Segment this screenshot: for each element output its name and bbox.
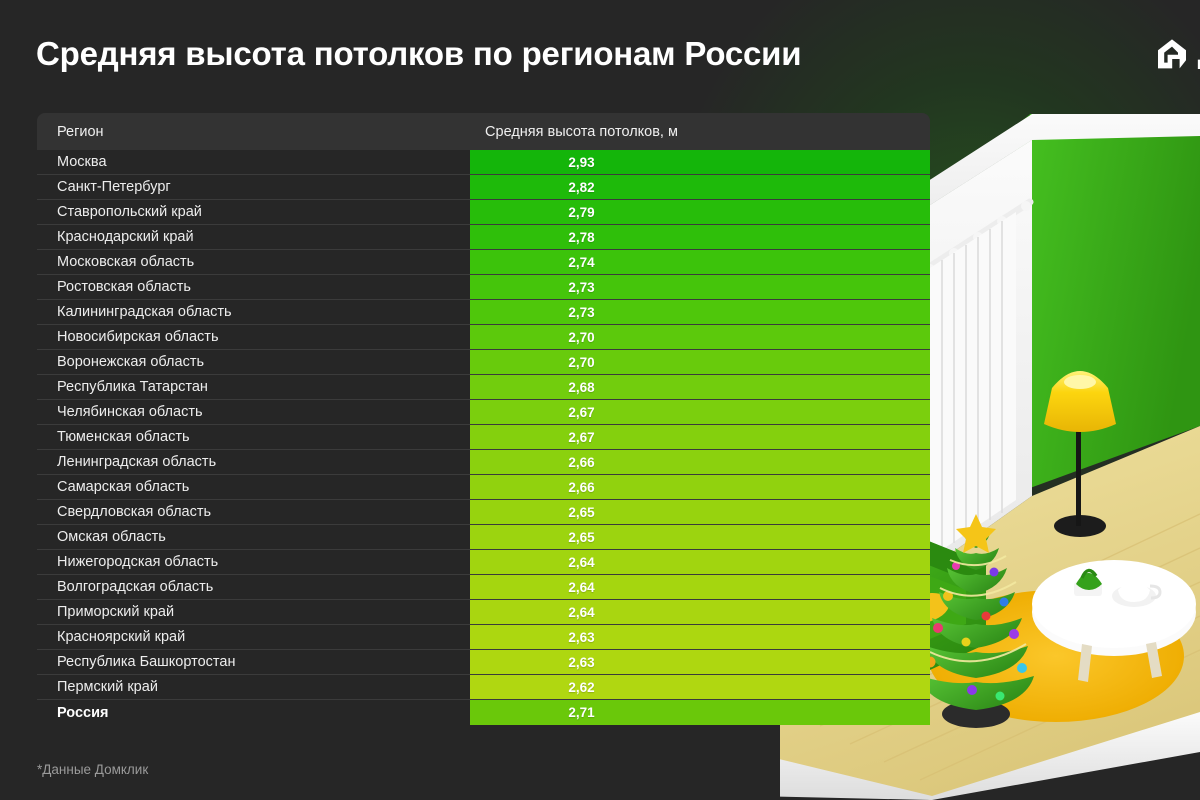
table-row: Приморский край2,64 xyxy=(37,600,930,625)
table-row: Самарская область2,66 xyxy=(37,475,930,500)
table-row: Омская область2,65 xyxy=(37,525,930,550)
cell-value-bar: 2,71 xyxy=(470,700,930,725)
cell-region-name: Москва xyxy=(37,150,470,174)
table-row: Нижегородская область2,64 xyxy=(37,550,930,575)
cell-value-bar: 2,93 xyxy=(470,150,930,174)
cell-value-bar: 2,64 xyxy=(470,600,930,624)
cell-value-bar: 2,67 xyxy=(470,400,930,424)
cell-value-bar: 2,70 xyxy=(470,325,930,349)
cell-region-name: Пермский край xyxy=(37,675,470,699)
cell-region-name: Приморский край xyxy=(37,600,470,624)
cell-region-name: Московская область xyxy=(37,250,470,274)
table-row: Челябинская область2,67 xyxy=(37,400,930,425)
table-row: Волгоградская область2,64 xyxy=(37,575,930,600)
table-row: Ростовская область2,73 xyxy=(37,275,930,300)
page-title: Средняя высота потолков по регионам Росс… xyxy=(36,36,801,72)
cell-region-name: Республика Татарстан xyxy=(37,375,470,399)
table-row: Московская область2,74 xyxy=(37,250,930,275)
cell-value-bar: 2,79 xyxy=(470,200,930,224)
cell-value-bar: 2,63 xyxy=(470,625,930,649)
cell-region-name: Ленинградская область xyxy=(37,450,470,474)
table-row: Санкт-Петербург2,82 xyxy=(37,175,930,200)
cell-value-bar: 2,63 xyxy=(470,650,930,674)
cell-value-bar: 2,73 xyxy=(470,275,930,299)
table-row: Краснодарский край2,78 xyxy=(37,225,930,250)
table-row: Свердловская область2,65 xyxy=(37,500,930,525)
table-row: Калининградская область2,73 xyxy=(37,300,930,325)
table-header-row: Регион Средняя высота потолков, м xyxy=(37,113,930,150)
cell-region-name: Новосибирская область xyxy=(37,325,470,349)
table-row: Красноярский край2,63 xyxy=(37,625,930,650)
table-row-total: Россия2,71 xyxy=(37,700,930,725)
cell-region-name: Красноярский край xyxy=(37,625,470,649)
page-header: Средняя высота потолков по регионам Росс… xyxy=(0,0,1200,108)
cell-value-bar: 2,66 xyxy=(470,475,930,499)
cell-region-name: Самарская область xyxy=(37,475,470,499)
ceiling-height-table: Регион Средняя высота потолков, м Москва… xyxy=(37,113,930,725)
cell-value-bar: 2,70 xyxy=(470,350,930,374)
cell-region-name: Краснодарский край xyxy=(37,225,470,249)
cell-value-bar: 2,62 xyxy=(470,675,930,699)
cell-region-name: Калининградская область xyxy=(37,300,470,324)
source-footnote: *Данные Домклик xyxy=(37,762,148,777)
cell-value-bar: 2,68 xyxy=(470,375,930,399)
column-header-value: Средняя высота потолков, м xyxy=(470,124,930,140)
cell-value-bar: 2,73 xyxy=(470,300,930,324)
cell-region-name: Республика Башкортостан xyxy=(37,650,470,674)
table-row: Новосибирская область2,70 xyxy=(37,325,930,350)
cell-value-bar: 2,64 xyxy=(470,575,930,599)
cell-value-bar: 2,64 xyxy=(470,550,930,574)
table-row: Республика Татарстан2,68 xyxy=(37,375,930,400)
table-body: Москва2,93Санкт-Петербург2,82Ставропольс… xyxy=(37,150,930,725)
cell-region-name: Россия xyxy=(37,700,470,725)
cell-value-bar: 2,82 xyxy=(470,175,930,199)
table-row: Ставропольский край2,79 xyxy=(37,200,930,225)
cell-region-name: Ставропольский край xyxy=(37,200,470,224)
table-row: Пермский край2,62 xyxy=(37,675,930,700)
cell-value-bar: 2,78 xyxy=(470,225,930,249)
cell-region-name: Омская область xyxy=(37,525,470,549)
domclick-logo: Д xyxy=(1155,37,1200,71)
cell-value-bar: 2,66 xyxy=(470,450,930,474)
cell-region-name: Воронежская область xyxy=(37,350,470,374)
cell-region-name: Челябинская область xyxy=(37,400,470,424)
cell-value-bar: 2,67 xyxy=(470,425,930,449)
table-row: Москва2,93 xyxy=(37,150,930,175)
table-row: Ленинградская область2,66 xyxy=(37,450,930,475)
cell-region-name: Нижегородская область xyxy=(37,550,470,574)
table-row: Республика Башкортостан2,63 xyxy=(37,650,930,675)
column-header-region: Регион xyxy=(37,124,470,140)
cell-region-name: Тюменская область xyxy=(37,425,470,449)
cell-region-name: Волгоградская область xyxy=(37,575,470,599)
cell-region-name: Ростовская область xyxy=(37,275,470,299)
table-row: Воронежская область2,70 xyxy=(37,350,930,375)
domclick-house-logo-icon xyxy=(1155,37,1189,71)
cell-value-bar: 2,74 xyxy=(470,250,930,274)
cell-region-name: Санкт-Петербург xyxy=(37,175,470,199)
cell-region-name: Свердловская область xyxy=(37,500,470,524)
table-row: Тюменская область2,67 xyxy=(37,425,930,450)
cell-value-bar: 2,65 xyxy=(470,500,930,524)
cell-value-bar: 2,65 xyxy=(470,525,930,549)
